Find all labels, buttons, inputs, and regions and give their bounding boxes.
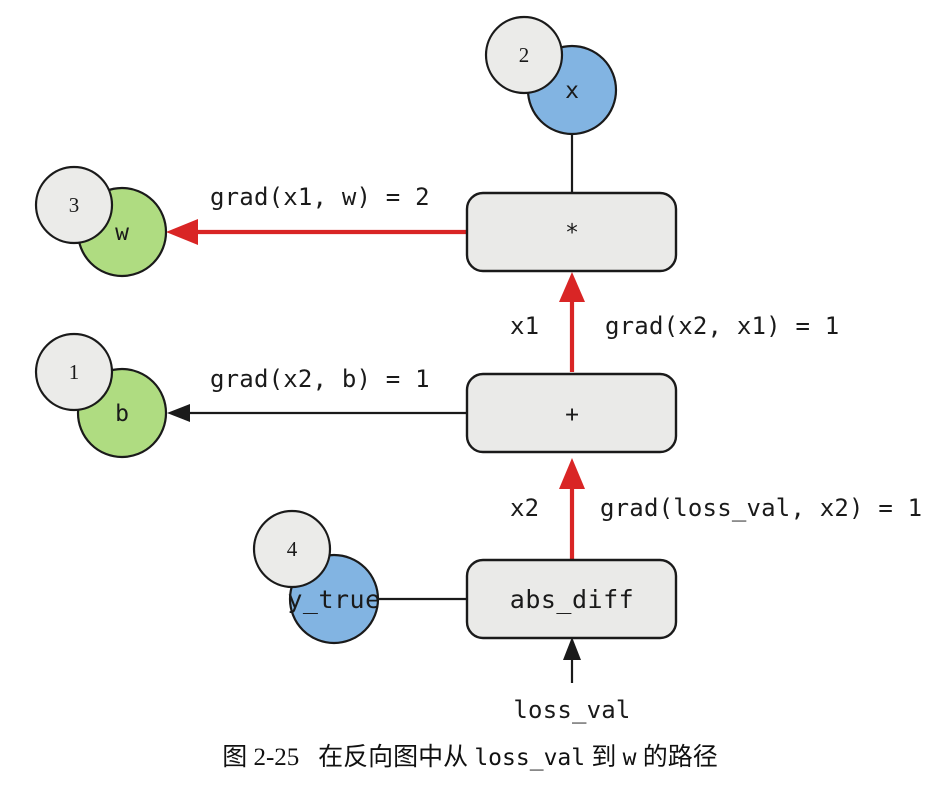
node-abs-diff-label: abs_diff [510, 585, 634, 614]
caption-gap [299, 744, 318, 771]
figure-diagram: * + abs_diff x 2 w 3 b [0, 0, 940, 787]
edge-label-loss-val: loss_val [513, 696, 630, 724]
edge-add-to-b [167, 404, 467, 422]
node-mul-label: * [565, 220, 579, 246]
edge-label-x1: x1 [510, 312, 539, 340]
edge-label-grad-x1-w: grad(x1, w) = 2 [210, 183, 430, 211]
node-w-badge-label: 3 [69, 193, 80, 217]
node-w-label: w [115, 220, 129, 246]
figure-caption: 图 2-25 在反向图中从 loss_val 到 w 的路径 [0, 737, 940, 773]
node-add-label: + [565, 402, 579, 428]
node-y-true[interactable]: y_true 4 [254, 511, 381, 643]
caption-text-2: 到 [591, 744, 616, 771]
edge-label-grad-x2-b: grad(x2, b) = 1 [210, 365, 430, 393]
edge-label-grad-x2-x1: grad(x2, x1) = 1 [605, 312, 839, 340]
computational-graph-svg: * + abs_diff x 2 w 3 b [0, 0, 940, 787]
node-y-true-badge-label: 4 [287, 537, 298, 561]
edge-lossval-to-absdiff [563, 637, 581, 683]
node-y-true-label: y_true [287, 585, 380, 614]
node-x-label: x [565, 78, 579, 104]
caption-code-loss-val: loss_val [474, 745, 585, 771]
edge-absdiff-to-add [559, 458, 585, 560]
node-w[interactable]: w 3 [36, 167, 166, 276]
node-b-badge-label: 1 [69, 360, 80, 384]
node-add[interactable]: + [467, 374, 676, 452]
edge-add-to-mul [559, 272, 585, 372]
caption-text-1: 在反向图中从 [318, 744, 468, 771]
edge-label-x2: x2 [510, 494, 539, 522]
node-b[interactable]: b 1 [36, 334, 166, 457]
node-b-label: b [115, 401, 129, 427]
edge-label-grad-loss-x2: grad(loss_val, x2) = 1 [600, 494, 922, 522]
node-mul[interactable]: * [467, 193, 676, 271]
caption-number: 图 2-25 [222, 744, 299, 771]
node-abs-diff[interactable]: abs_diff [467, 560, 676, 638]
caption-code-w: w [623, 745, 637, 771]
caption-text-3: 的路径 [643, 744, 718, 771]
node-x-badge-label: 2 [519, 43, 530, 67]
node-x[interactable]: x 2 [486, 17, 616, 134]
edge-mul-to-w [166, 219, 467, 245]
